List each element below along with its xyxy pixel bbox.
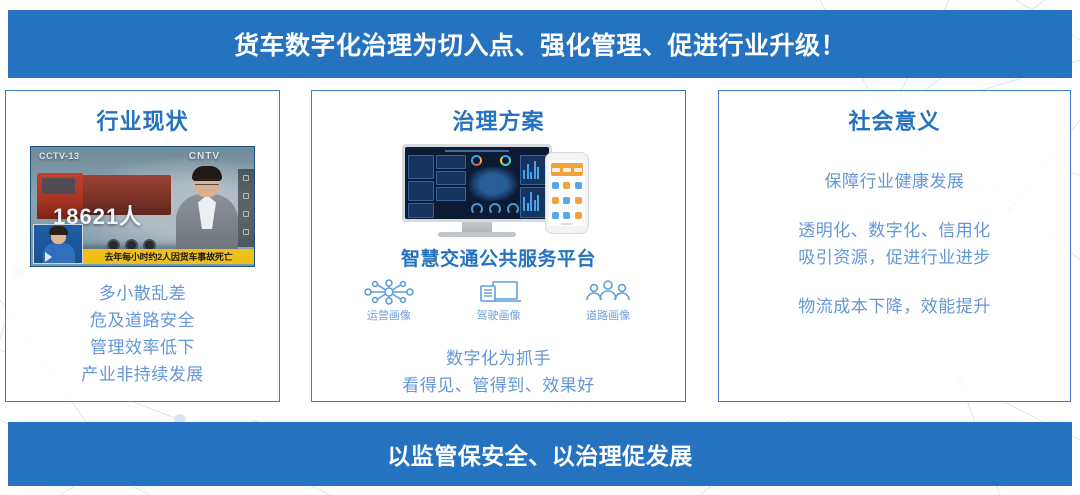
dashboard-widget — [436, 155, 466, 169]
mobile-app-screen — [549, 160, 585, 226]
favorite-icon[interactable] — [243, 193, 249, 199]
news-anchor-figure — [174, 168, 240, 248]
right-line-4: 物流成本下降，效能提升 — [719, 293, 1070, 320]
news-caption-text: 去年每小时约2人因货车事故死亡 — [104, 250, 232, 263]
monitor-stand-base — [438, 232, 516, 237]
footer-banner: 以监管保安全、以治理促发展 — [8, 422, 1072, 486]
app-icon — [574, 179, 583, 191]
news-screenshot-image: 18621人 CCTV-13 CNTV 去年每小时约2人因货车事故死亡 — [30, 146, 255, 267]
china-map-visual — [469, 167, 517, 201]
feature-driving-profile[interactable]: 驾驶画像 — [471, 279, 525, 323]
panel-industry-status: 行业现状 18621人 CCTV-13 CNTV — [5, 90, 280, 402]
panel-governance-plan: 治理方案 — [311, 90, 686, 402]
mobile-app-icon-grid — [551, 179, 583, 221]
left-panel-text-lines: 多小散乱差 危及道路安全 管理效率低下 产业非持续发展 — [6, 280, 279, 388]
platform-name-label: 智慧交通公共服务平台 — [312, 244, 685, 271]
spacer — [719, 271, 1070, 293]
dashboard-title-bar — [445, 150, 508, 152]
truck-window — [42, 178, 75, 194]
left-line-3: 管理效率低下 — [6, 334, 279, 361]
sign-interpreter-hair — [49, 226, 68, 235]
download-icon[interactable] — [243, 211, 249, 217]
feature-operation-profile[interactable]: 运营画像 — [362, 279, 416, 323]
gauge-chart-icon — [471, 203, 483, 215]
donut-chart-icon — [500, 155, 511, 166]
bar-chart-icon — [523, 159, 539, 179]
play-icon[interactable] — [45, 252, 52, 262]
app-icon — [551, 194, 560, 206]
feature-label-operation: 运营画像 — [367, 307, 411, 323]
panel-left-title: 行业现状 — [6, 104, 279, 136]
bar-chart-icon — [523, 189, 539, 211]
news-caption-bar: 去年每小时约2人因货车事故死亡 — [83, 249, 254, 264]
share-icon[interactable] — [243, 175, 249, 181]
platform-device-mockup — [396, 144, 601, 239]
home-indicator — [561, 223, 573, 225]
mobile-app-header — [551, 163, 583, 176]
gauge-chart-icon — [489, 203, 501, 215]
app-icon — [574, 209, 583, 221]
donut-chart-icon — [471, 155, 482, 166]
slide-canvas: 货车数字化治理为切入点、强化管理、促进行业升级！ 行业现状 18621人 — [0, 0, 1080, 495]
app-icon — [562, 194, 571, 206]
app-icon — [562, 209, 571, 221]
header-title: 货车数字化治理为切入点、强化管理、促进行业升级！ — [234, 26, 846, 62]
dashboard-widget — [436, 187, 466, 201]
panel-middle-title: 治理方案 — [312, 104, 685, 136]
right-line-1: 保障行业健康发展 — [719, 168, 1070, 195]
middle-panel-text-lines: 数字化为抓手 看得见、管得到、效果好 — [312, 345, 685, 399]
app-icon — [574, 194, 583, 206]
app-icon — [551, 179, 560, 191]
feature-label-road: 道路画像 — [586, 307, 630, 323]
right-line-3: 吸引资源，促进行业进步 — [719, 244, 1070, 271]
panel-social-significance: 社会意义 保障行业健康发展 透明化、数字化、信用化 吸引资源，促进行业进步 物流… — [718, 90, 1071, 402]
header-tab — [552, 168, 560, 172]
dashboard-screen — [405, 147, 549, 219]
video-player-toolbar[interactable] — [238, 169, 254, 247]
header-banner: 货车数字化治理为切入点、强化管理、促进行业升级！ — [8, 10, 1072, 78]
dashboard-widget — [408, 155, 434, 179]
feature-icon-row: 运营画像 驾驶画像 — [312, 279, 685, 323]
feature-road-profile[interactable]: 道路画像 — [581, 279, 635, 323]
right-panel-text-lines: 保障行业健康发展 透明化、数字化、信用化 吸引资源，促进行业进步 物流成本下降，… — [719, 168, 1070, 320]
sign-language-inset — [33, 224, 83, 264]
mobile-phone — [545, 152, 589, 234]
network-nodes-icon — [362, 279, 416, 305]
header-tab — [563, 168, 571, 172]
feature-label-driving: 驾驶画像 — [476, 307, 520, 323]
more-icon[interactable] — [243, 229, 249, 235]
cctv-channel-logo: CCTV-13 — [39, 151, 80, 161]
desktop-monitor — [402, 144, 552, 222]
middle-line-2: 看得见、管得到、效果好 — [312, 372, 685, 399]
footer-title: 以监管保安全、以治理促发展 — [387, 437, 693, 471]
anchor-glasses — [195, 179, 219, 185]
header-tab — [574, 168, 582, 172]
app-icon — [562, 179, 571, 191]
cntv-network-logo: CNTV — [189, 151, 220, 162]
app-icon — [551, 209, 560, 221]
people-group-icon — [581, 279, 635, 305]
dashboard-widget — [408, 203, 434, 218]
middle-line-1: 数字化为抓手 — [312, 345, 685, 372]
left-line-4: 产业非持续发展 — [6, 361, 279, 388]
left-line-1: 多小散乱差 — [6, 280, 279, 307]
panel-right-title: 社会意义 — [719, 104, 1070, 136]
gauge-chart-icon — [507, 203, 519, 215]
dashboard-widget — [436, 171, 466, 185]
laptop-document-icon — [471, 279, 525, 305]
right-line-2: 透明化、数字化、信用化 — [719, 217, 1070, 244]
left-line-2: 危及道路安全 — [6, 307, 279, 334]
dashboard-widget — [408, 181, 434, 201]
spacer — [719, 195, 1070, 217]
